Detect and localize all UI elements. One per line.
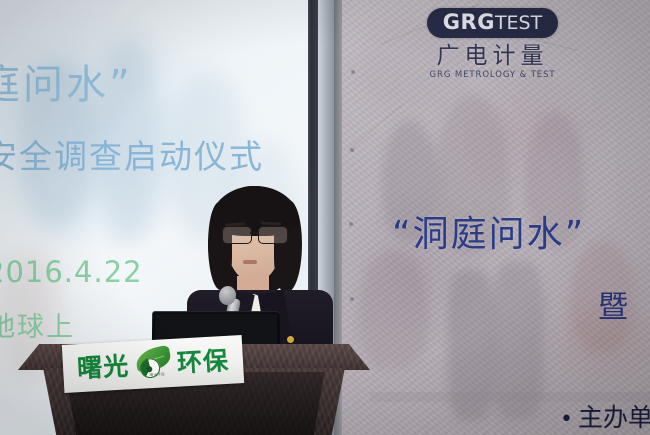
- brand-bold-text: GRG: [443, 10, 495, 34]
- shuguang-leaf-logo: 曙光环保: [132, 346, 174, 382]
- brand-english-name: GRG METROLOGY & TEST: [395, 70, 590, 80]
- glasses-lens-right: [258, 226, 288, 244]
- grgtest-logo: GRGTEST 广电计量 GRG METROLOGY & TEST: [395, 8, 590, 80]
- wall-screw: [350, 148, 354, 152]
- slide-title-line: 庭问水”: [0, 52, 133, 110]
- wall-baseboard: [370, 392, 650, 402]
- backdrop-bullet-line: •主办单: [560, 398, 650, 434]
- eyeglasses-icon: [220, 226, 290, 243]
- sign-text-right: 环保: [176, 347, 229, 375]
- wall-screw: [350, 297, 354, 301]
- photo-scene: GRGTEST 广电计量 GRG METROLOGY & TEST “洞庭问水”…: [0, 0, 650, 435]
- brand-chinese-name: 广电计量: [395, 44, 590, 68]
- slide-footer-line: 地球上: [0, 305, 75, 344]
- brand-light-text: TEST: [495, 12, 542, 34]
- sign-logo-tagline: 曙光环保: [150, 372, 165, 378]
- grgtest-wordmark-pill: GRGTEST: [427, 8, 558, 38]
- backdrop-ghost-image: [358, 250, 428, 370]
- speaker-mouth: [243, 260, 257, 264]
- bullet-marker-icon: •: [560, 407, 573, 432]
- lapel-pin: [287, 336, 294, 343]
- backdrop-subline: 暨: [598, 282, 628, 326]
- slide-subtitle-line: 安全调查启动仪式: [0, 130, 264, 178]
- glasses-lens-left: [222, 226, 252, 244]
- wall-screw: [351, 70, 355, 74]
- backdrop-headline: “洞庭问水”: [392, 205, 585, 257]
- bullet-text: 主办单: [578, 403, 650, 432]
- slide-date: 2016.4.22: [0, 255, 143, 289]
- sign-text-left: 曙光: [76, 353, 129, 381]
- podium-sign: 曙光 曙光环保 环保: [62, 335, 244, 393]
- wall-screw: [349, 222, 353, 226]
